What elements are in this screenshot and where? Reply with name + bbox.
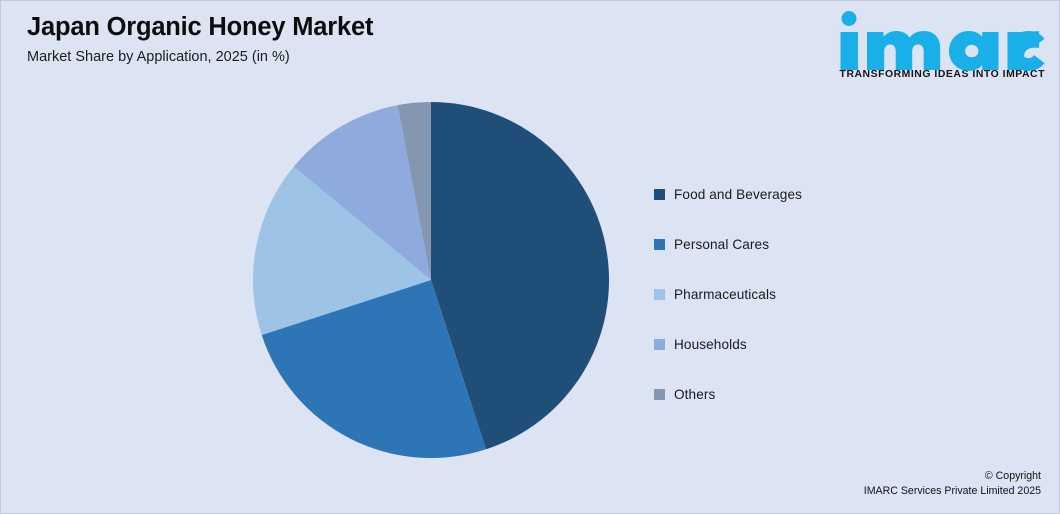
legend-item-food-and-beverages[interactable]: Food and Beverages: [654, 169, 944, 219]
imarc-logo: TRANSFORMING IDEAS INTO IMPACT: [819, 9, 1045, 80]
legend-item-pharmaceuticals[interactable]: Pharmaceuticals: [654, 269, 944, 319]
legend-label: Households: [674, 337, 747, 352]
header: Japan Organic Honey Market Market Share …: [27, 13, 587, 65]
legend-item-others[interactable]: Others: [654, 369, 944, 419]
copyright-line-1: © Copyright: [864, 469, 1041, 484]
legend-label: Pharmaceuticals: [674, 287, 776, 302]
legend-item-personal-cares[interactable]: Personal Cares: [654, 219, 944, 269]
legend-label: Personal Cares: [674, 237, 769, 252]
pie-chart: [252, 101, 610, 459]
legend-swatch-icon: [654, 289, 665, 300]
chart-page: Japan Organic Honey Market Market Share …: [0, 0, 1060, 514]
footer: © Copyright IMARC Services Private Limit…: [864, 469, 1041, 499]
legend-swatch-icon: [654, 339, 665, 350]
imarc-wordmark-icon: [819, 9, 1045, 71]
legend-swatch-icon: [654, 239, 665, 250]
pie-slice-group: [253, 102, 609, 458]
copyright-line-2: IMARC Services Private Limited 2025: [864, 484, 1041, 499]
legend-swatch-icon: [654, 389, 665, 400]
legend-item-households[interactable]: Households: [654, 319, 944, 369]
legend-label: Others: [674, 387, 715, 402]
legend-swatch-icon: [654, 189, 665, 200]
page-title: Japan Organic Honey Market: [27, 13, 587, 42]
legend-label: Food and Beverages: [674, 187, 802, 202]
chart-subtitle: Market Share by Application, 2025 (in %): [27, 49, 587, 65]
chart-legend: Food and Beverages Personal Cares Pharma…: [654, 169, 944, 419]
